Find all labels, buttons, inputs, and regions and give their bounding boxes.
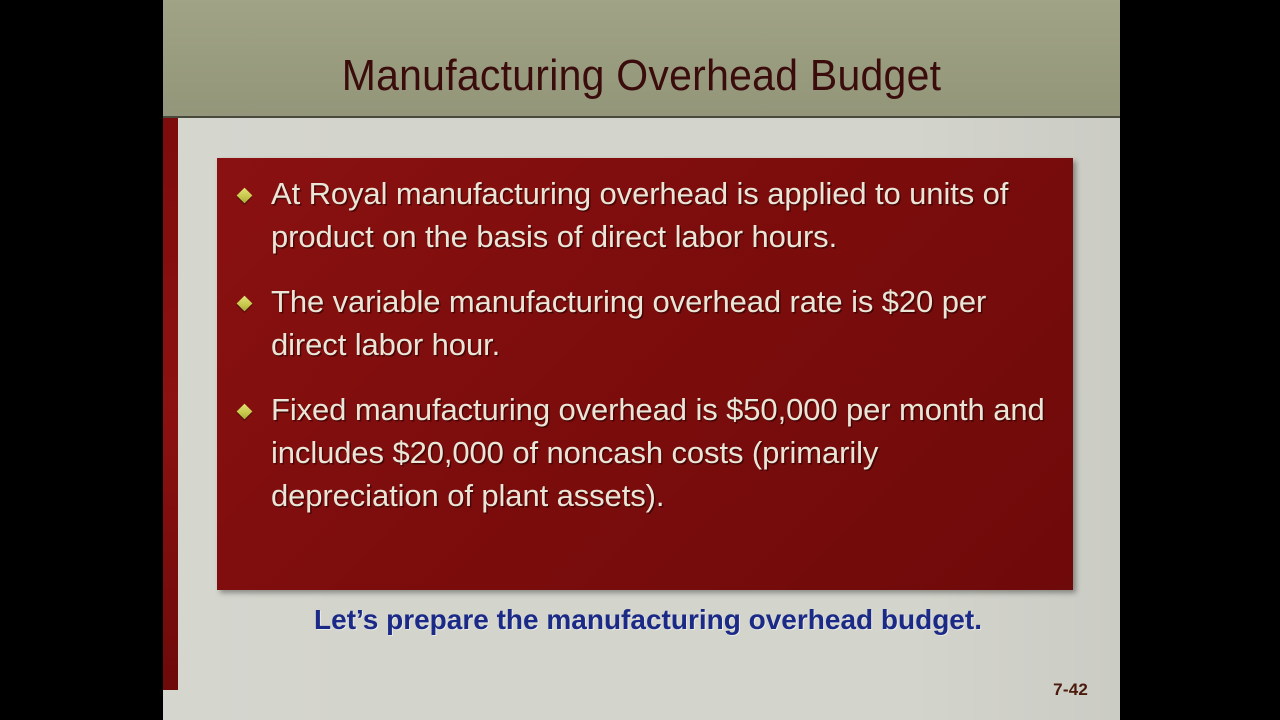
slide-caption: Let’s prepare the manufacturing overhead… bbox=[233, 598, 1063, 642]
slide-number: 7-42 bbox=[1053, 680, 1088, 700]
letterbox-left bbox=[0, 0, 163, 720]
bullet-content-box: At Royal manufacturing overhead is appli… bbox=[217, 158, 1073, 590]
slide-header-band: Manufacturing Overhead Budget bbox=[163, 0, 1120, 118]
letterbox-right bbox=[1120, 0, 1280, 720]
bullet-item: The variable manufacturing overhead rate… bbox=[231, 280, 1047, 366]
slide-canvas: Manufacturing Overhead Budget At Royal m… bbox=[163, 0, 1120, 720]
bullet-text: The variable manufacturing overhead rate… bbox=[271, 280, 1047, 366]
diamond-bullet-icon bbox=[237, 404, 253, 420]
bullet-item: Fixed manufacturing overhead is $50,000 … bbox=[231, 388, 1047, 517]
bullet-marker bbox=[231, 280, 271, 314]
bullet-text: Fixed manufacturing overhead is $50,000 … bbox=[271, 388, 1047, 517]
slide-title: Manufacturing Overhead Budget bbox=[196, 52, 1086, 100]
presentation-frame: Manufacturing Overhead Budget At Royal m… bbox=[0, 0, 1280, 720]
diamond-bullet-icon bbox=[237, 296, 253, 312]
bullet-item: At Royal manufacturing overhead is appli… bbox=[231, 172, 1047, 258]
diamond-bullet-icon bbox=[237, 188, 253, 204]
bullet-marker bbox=[231, 388, 271, 422]
bullet-marker bbox=[231, 172, 271, 206]
bullet-text: At Royal manufacturing overhead is appli… bbox=[271, 172, 1047, 258]
left-accent-stripe bbox=[163, 118, 178, 690]
